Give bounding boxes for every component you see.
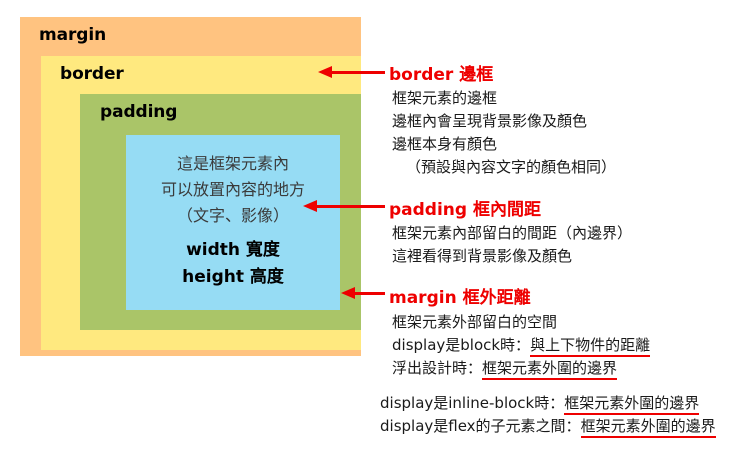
rule-underlined: 框架元素外圍的邊界 bbox=[581, 417, 716, 438]
border-box-label: border bbox=[60, 64, 124, 84]
annotation-heading-padding: padding 框內間距 bbox=[389, 195, 541, 220]
annotation-line: （預設與內容文字的顏色相同） bbox=[392, 156, 616, 179]
content-box-description: 這是框架元素內 可以放置內容的地方 （文字、影像） bbox=[126, 151, 340, 229]
height-label: height 高度 bbox=[126, 264, 340, 291]
content-box: 這是框架元素內 可以放置內容的地方 （文字、影像） width 寬度 heigh… bbox=[126, 135, 340, 310]
annotation-line: 框架元素外部留白的空間 bbox=[392, 311, 650, 334]
rule-prefix: display是inline-block時： bbox=[380, 394, 564, 412]
annotation-heading-margin: margin 框外距離 bbox=[389, 283, 531, 308]
rule-underlined: 框架元素外圍的邊界 bbox=[482, 359, 617, 380]
annotation-body-padding: 框架元素內部留白的間距（內邊界） 這裡看得到背景影像及顏色 bbox=[392, 222, 632, 268]
annotation-rule: display是inline-block時：框架元素外圍的邊界 bbox=[380, 392, 716, 415]
padding-box-label: padding bbox=[100, 102, 177, 122]
arrow-left-icon-border bbox=[331, 71, 385, 74]
content-line: 這是框架元素內 bbox=[126, 151, 340, 177]
annotation-rule: display是flex的子元素之間：框架元素外圍的邊界 bbox=[380, 415, 716, 438]
annotation-rule: display是block時：與上下物件的距離 bbox=[392, 334, 650, 357]
annotation-body-margin: 框架元素外部留白的空間 display是block時：與上下物件的距離 浮出設計… bbox=[392, 311, 650, 380]
rule-underlined: 框架元素外圍的邊界 bbox=[564, 394, 699, 415]
annotation-line: 這裡看得到背景影像及顏色 bbox=[392, 245, 632, 268]
annotation-body-margin-extra: display是inline-block時：框架元素外圍的邊界 display是… bbox=[380, 392, 716, 438]
width-label: width 寬度 bbox=[126, 237, 340, 264]
annotation-line: 邊框本身有顏色 bbox=[392, 133, 616, 156]
box-model-diagram: margin border padding 這是框架元素內 可以放置內容的地方 … bbox=[20, 17, 361, 356]
annotation-line: 邊框內會呈現背景影像及顏色 bbox=[392, 110, 616, 133]
padding-box: padding 這是框架元素內 可以放置內容的地方 （文字、影像） width … bbox=[80, 94, 361, 330]
arrow-left-icon-margin bbox=[354, 292, 385, 295]
rule-underlined: 與上下物件的距離 bbox=[530, 336, 650, 357]
annotation-line: 框架元素內部留白的間距（內邊界） bbox=[392, 222, 632, 245]
rule-prefix: display是block時： bbox=[392, 336, 530, 354]
content-box-dimensions: width 寬度 height 高度 bbox=[126, 237, 340, 291]
annotation-line: 框架元素的邊框 bbox=[392, 87, 616, 110]
arrow-left-icon-padding bbox=[316, 205, 385, 208]
margin-box-label: margin bbox=[39, 25, 106, 45]
rule-prefix: display是flex的子元素之間： bbox=[380, 417, 581, 435]
annotation-heading-border: border 邊框 bbox=[389, 60, 493, 85]
annotation-rule: 浮出設計時：框架元素外圍的邊界 bbox=[392, 357, 650, 380]
rule-prefix: 浮出設計時： bbox=[392, 359, 482, 377]
annotation-body-border: 框架元素的邊框 邊框內會呈現背景影像及顏色 邊框本身有顏色 （預設與內容文字的顏… bbox=[392, 87, 616, 179]
